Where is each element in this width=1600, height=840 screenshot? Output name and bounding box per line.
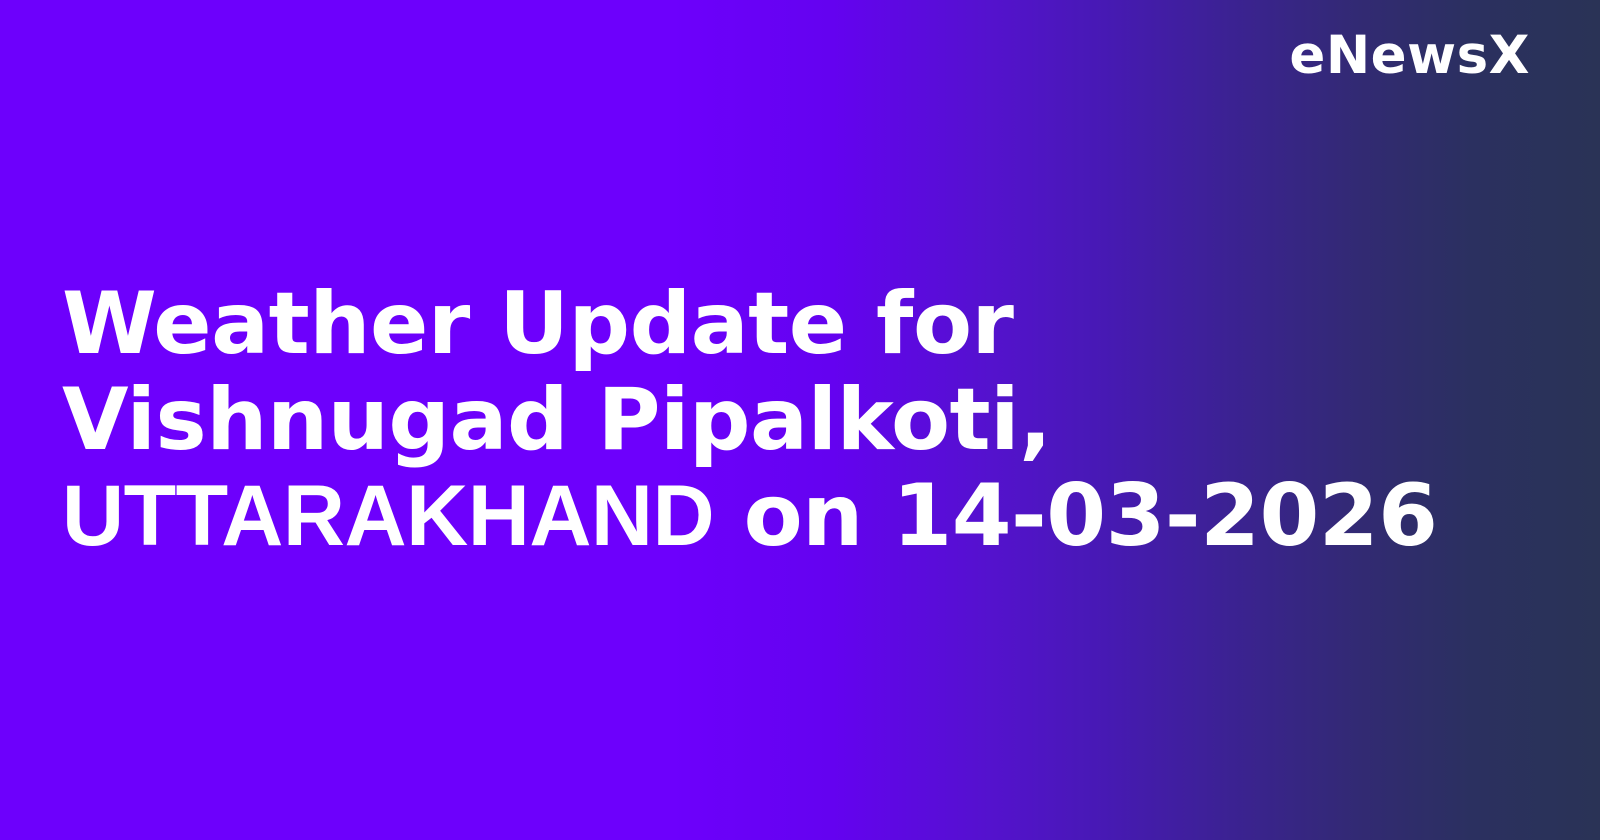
headline-date: 14-03-2026 [892,466,1437,566]
weather-update-card: eNewsX Weather Update for Vishnugad Pipa… [0,0,1600,840]
headline-line-1: Weather Update for [62,276,1538,372]
headline-block: Weather Update for Vishnugad Pipalkoti, … [62,276,1538,564]
page-title: Weather Update for Vishnugad Pipalkoti, … [62,276,1538,564]
headline-connector: on [744,466,863,566]
headline-date-spacer [863,466,892,566]
headline-line-2: Vishnugad Pipalkoti, [62,372,1538,468]
headline-connector-spacer [714,466,743,566]
headline-state: UTTARAKHAND [62,468,714,564]
headline-line-3: UTTARAKHAND on 14-03-2026 [62,468,1538,564]
brand-logo[interactable]: eNewsX [1289,28,1530,84]
